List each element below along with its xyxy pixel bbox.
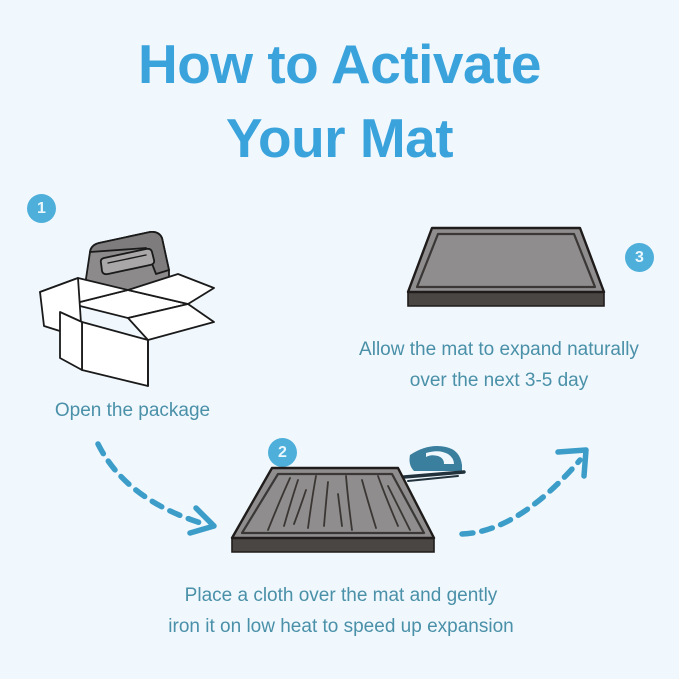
step-caption-2: Place a cloth over the mat and gently ir… (96, 581, 586, 643)
caption-1-line-1: Open the package (0, 396, 265, 427)
page-title: How to Activate Your Mat (0, 28, 679, 175)
title-line-1: How to Activate (0, 28, 679, 102)
caption-2-line-2: iron it on low heat to speed up expansio… (96, 612, 586, 643)
caption-3-line-1: Allow the mat to expand naturally (316, 335, 679, 366)
infographic-canvas: How to Activate Your Mat 1 (0, 0, 679, 679)
caption-2-line-1: Place a cloth over the mat and gently (96, 581, 586, 612)
arrow-step1-to-step2 (92, 438, 242, 538)
step-badge-3: 3 (625, 243, 654, 272)
step-caption-1: Open the package (0, 396, 265, 427)
title-line-2: Your Mat (0, 102, 679, 176)
wrinkled-mat-icon (228, 460, 438, 565)
step-caption-3: Allow the mat to expand naturally over t… (316, 335, 679, 397)
arrow-step2-to-step3 (458, 440, 608, 545)
caption-3-line-2: over the next 3-5 day (316, 366, 679, 397)
flat-mat-icon (402, 222, 612, 317)
cardboard-box-icon (38, 218, 218, 390)
